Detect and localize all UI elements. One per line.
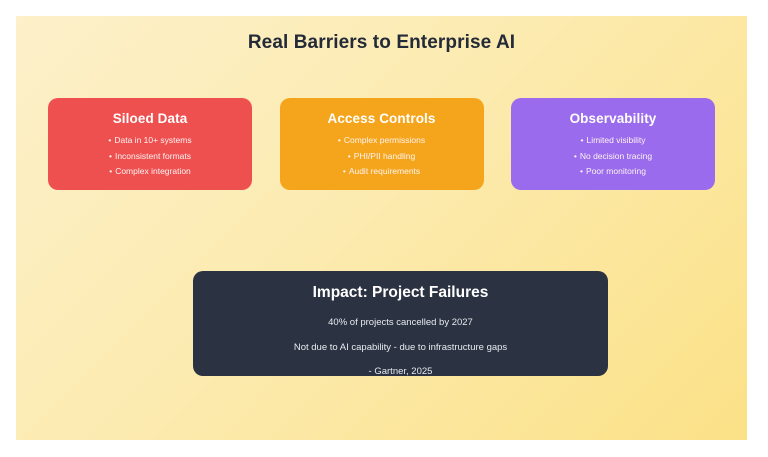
list-item-label: Complex permissions [344, 135, 425, 145]
list-item: •Complex integration [58, 167, 242, 176]
list-item-label: Data in 10+ systems [114, 135, 191, 145]
list-item: •No decision tracing [521, 152, 705, 161]
barrier-card-title: Observability [521, 111, 705, 126]
list-item-label: Limited visibility [586, 135, 645, 145]
impact-title: Impact: Project Failures [193, 284, 608, 302]
list-item: •Inconsistent formats [58, 152, 242, 161]
barrier-card-title: Siloed Data [58, 111, 242, 126]
list-item: •Data in 10+ systems [58, 136, 242, 145]
barrier-card-observability[interactable]: Observability •Limited visibility •No de… [511, 98, 715, 190]
bullet-icon: • [580, 136, 583, 145]
bullet-icon: • [109, 167, 112, 176]
list-item: •Poor monitoring [521, 167, 705, 176]
list-item-label: No decision tracing [580, 151, 652, 161]
barrier-card-list: •Limited visibility •No decision tracing… [521, 136, 705, 176]
bullet-icon: • [574, 152, 577, 161]
slide-canvas: Real Barriers to Enterprise AI Siloed Da… [16, 16, 747, 440]
list-item-label: Audit requirements [349, 166, 420, 176]
bullet-icon: • [108, 136, 111, 145]
impact-statistic: 40% of projects cancelled by 2027 [193, 318, 608, 328]
impact-panel: Impact: Project Failures 40% of projects… [193, 271, 608, 376]
bullet-icon: • [343, 167, 346, 176]
list-item-label: Complex integration [115, 166, 191, 176]
list-item: •PHI/PII handling [290, 152, 474, 161]
bullet-icon: • [348, 152, 351, 161]
list-item: •Limited visibility [521, 136, 705, 145]
impact-source-citation: - Gartner, 2025 [193, 367, 608, 377]
bullet-icon: • [109, 152, 112, 161]
impact-explanation: Not due to AI capability - due to infras… [193, 343, 608, 353]
list-item-label: Poor monitoring [586, 166, 646, 176]
list-item-label: Inconsistent formats [115, 151, 191, 161]
page-title: Real Barriers to Enterprise AI [16, 32, 747, 54]
barrier-card-row: Siloed Data •Data in 10+ systems •Incons… [48, 98, 715, 190]
list-item: •Audit requirements [290, 167, 474, 176]
barrier-card-access-controls[interactable]: Access Controls •Complex permissions •PH… [280, 98, 484, 190]
barrier-card-title: Access Controls [290, 111, 474, 126]
list-item: •Complex permissions [290, 136, 474, 145]
barrier-card-siloed-data[interactable]: Siloed Data •Data in 10+ systems •Incons… [48, 98, 252, 190]
list-item-label: PHI/PII handling [354, 151, 415, 161]
barrier-card-list: •Data in 10+ systems •Inconsistent forma… [58, 136, 242, 176]
barrier-card-list: •Complex permissions •PHI/PII handling •… [290, 136, 474, 176]
bullet-icon: • [580, 167, 583, 176]
bullet-icon: • [338, 136, 341, 145]
